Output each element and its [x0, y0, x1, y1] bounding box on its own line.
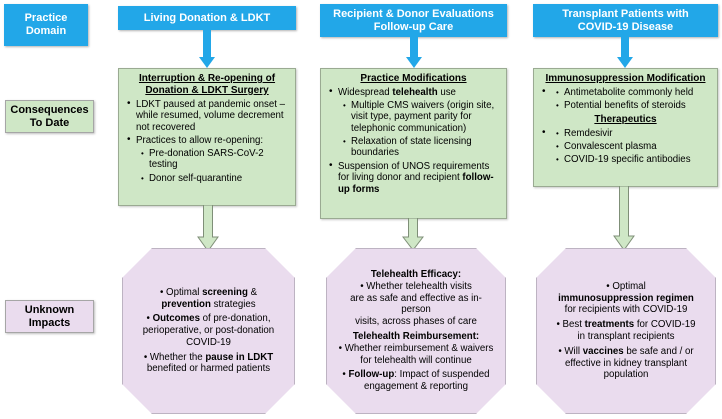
arrow-green-col1 [197, 205, 219, 253]
unknown-line: are as safe and effective as in-person [337, 293, 495, 317]
unknown-line: visits, across phases of care [337, 316, 495, 328]
bullet-subitem: Potential benefits of steroids [564, 100, 712, 112]
unknown-line: • Optimal screening & [133, 287, 284, 299]
column-header-transplant-covid-text: Transplant Patients withCOVID-19 Disease [562, 8, 689, 34]
bullet-item: Suspension of UNOS requirements for livi… [338, 161, 501, 196]
unknown-group: • Follow-up: Impact of suspendedengageme… [337, 369, 495, 393]
unknown-line: for recipients with COVID-19 [547, 304, 705, 316]
consequences-box-col3: Immunosuppression Modification Antimetab… [533, 68, 718, 187]
unknown-line: perioperative, or post-donation [133, 325, 284, 337]
arrow-down-icon [613, 186, 635, 252]
unknown-group: Telehealth Reimbursement:• Whether reimb… [337, 331, 495, 366]
arrow-blue-col2 [406, 37, 422, 69]
column-header-recipient-donor-text: Recipient & Donor EvaluationsFollow-up C… [333, 8, 494, 34]
unknown-line: COVID-19 [133, 337, 284, 349]
unknown-octagon-col1: • Optimal screening &prevention strategi… [122, 248, 295, 414]
consequences-col2-title: Practice Modifications [326, 73, 501, 85]
consequences-box-col2: Practice Modifications Widespread telehe… [320, 68, 507, 219]
column-header-recipient-donor[interactable]: Recipient & Donor EvaluationsFollow-up C… [320, 4, 507, 37]
unknown-group: • Will vaccines be safe and / oreffectiv… [547, 346, 705, 381]
row-label-practice-domain: PracticeDomain [4, 4, 88, 46]
arrow-blue-col3 [617, 37, 633, 69]
arrow-blue-col1 [199, 30, 215, 68]
unknown-line: • Whether reimbursement & waivers [337, 343, 495, 355]
unknown-line: • Whether the pause in LDKT [133, 352, 284, 364]
unknown-octagon-col2: Telehealth Efficacy:• Whether telehealth… [326, 248, 506, 414]
consequences-col3-list-2: RemdesivirConvalescent plasmaCOVID-19 sp… [539, 128, 712, 166]
unknown-line: population [547, 369, 705, 381]
consequences-box-col1: Interruption & Re-opening of Donation & … [118, 68, 296, 206]
column-header-living-donation[interactable]: Living Donation & LDKT [118, 6, 296, 30]
unknown-line: for telehealth will continue [337, 355, 495, 367]
row-label-practice-domain-text: PracticeDomain [25, 12, 68, 38]
row-label-consequences-text: ConsequencesTo Date [10, 104, 88, 130]
bullet-item: LDKT paused at pandemic onset – while re… [136, 99, 290, 134]
unknown-line: benefited or harmed patients [133, 363, 284, 375]
unknown-line: Telehealth Reimbursement: [337, 331, 495, 343]
arrow-down-icon [402, 218, 424, 252]
consequences-col3-title-2: Therapeutics [539, 114, 712, 126]
unknown-col3-groups: • Optimalimmunosuppression regimenfor re… [547, 278, 705, 384]
unknown-col1-groups: • Optimal screening &prevention strategi… [133, 284, 284, 379]
unknown-line: • Outcomes of pre-donation, [133, 313, 284, 325]
unknown-col2-groups: Telehealth Efficacy:• Whether telehealth… [337, 266, 495, 396]
arrow-green-col2 [402, 218, 424, 252]
bullet-subitem: COVID-19 specific antibodies [564, 154, 712, 166]
bullet-subitem: Relaxation of state licensing boundaries [351, 136, 501, 159]
unknown-group: • Optimalimmunosuppression regimenfor re… [547, 281, 705, 316]
unknown-line: engagement & reporting [337, 381, 495, 393]
bullet-subitem: Antimetabolite commonly held [564, 87, 712, 99]
consequences-col1-title: Interruption & Re-opening of Donation & … [124, 73, 290, 97]
unknown-group: • Optimal screening &prevention strategi… [133, 287, 284, 311]
consequences-col1-list: LDKT paused at pandemic onset – while re… [124, 99, 290, 185]
column-header-transplant-covid[interactable]: Transplant Patients withCOVID-19 Disease [533, 4, 718, 37]
unknown-line: • Optimal [547, 281, 705, 293]
bullet-item: Widespread telehealth useMultiple CMS wa… [338, 87, 501, 160]
diagram-canvas: PracticeDomain ConsequencesTo Date Unkno… [0, 0, 722, 419]
consequences-col3-list-1: Antimetabolite commonly heldPotential be… [539, 87, 712, 112]
arrow-green-col3 [613, 186, 635, 252]
consequences-col2-list: Widespread telehealth useMultiple CMS wa… [326, 87, 501, 196]
unknown-line: Telehealth Efficacy: [337, 269, 495, 281]
unknown-group: Telehealth Efficacy:• Whether telehealth… [337, 269, 495, 328]
unknown-line: • Will vaccines be safe and / or [547, 346, 705, 358]
bullet-item: Practices to allow re-opening:Pre-donati… [136, 135, 290, 184]
row-label-unknown-impacts: UnknownImpacts [5, 300, 94, 333]
unknown-octagon-col3: • Optimalimmunosuppression regimenfor re… [536, 248, 716, 414]
row-label-unknown-text: UnknownImpacts [25, 304, 75, 330]
unknown-line: • Whether telehealth visits [337, 281, 495, 293]
unknown-line: prevention strategies [133, 299, 284, 311]
unknown-group: • Best treatments for COVID-19in transpl… [547, 319, 705, 343]
bullet-subitem: Multiple CMS waivers (origin site, visit… [351, 100, 501, 135]
unknown-group: • Whether the pause in LDKTbenefited or … [133, 352, 284, 376]
unknown-line: • Best treatments for COVID-19 [547, 319, 705, 331]
unknown-line: immunosuppression regimen [547, 293, 705, 305]
bullet-subitem: Donor self-quarantine [149, 173, 290, 185]
arrow-down-icon [197, 205, 219, 253]
unknown-line: effective in kidney transplant [547, 358, 705, 370]
bullet-subitem: Pre-donation SARS-CoV-2 testing [149, 148, 290, 171]
consequences-col3-title-1: Immunosuppression Modification [539, 73, 712, 85]
unknown-group: • Outcomes of pre-donation,perioperative… [133, 313, 284, 348]
row-label-consequences-to-date: ConsequencesTo Date [5, 100, 94, 133]
unknown-line: • Follow-up: Impact of suspended [337, 369, 495, 381]
column-header-living-donation-text: Living Donation & LDKT [144, 12, 270, 25]
bullet-subitem: Remdesivir [564, 128, 712, 140]
bullet-subitem: Convalescent plasma [564, 141, 712, 153]
unknown-line: in transplant recipients [547, 331, 705, 343]
